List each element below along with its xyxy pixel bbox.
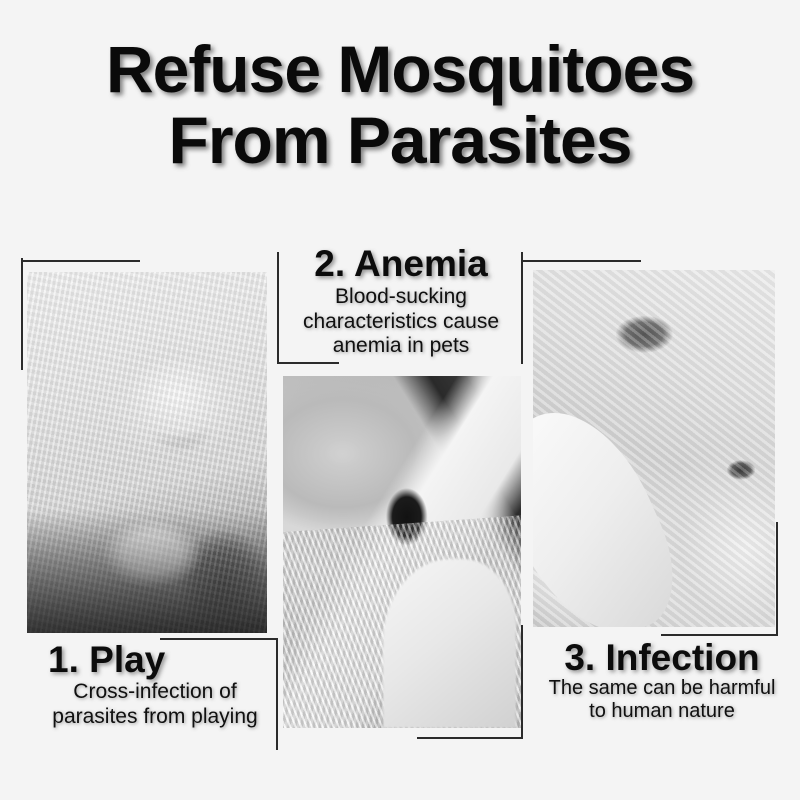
photo-play [27,272,267,633]
bracket-anemia-bottom-right-horizontal [417,737,523,739]
title-line-2: From Parasites [0,109,800,172]
bracket-play-top-left-vertical [21,258,23,370]
bracket-anemia-bottom-right-vertical [521,625,523,737]
caption-infection: 3. Infection The same can be harmful to … [528,638,796,724]
caption-play-body: Cross-infection of parasites from playin… [30,680,280,729]
caption-anemia-heading: 2. Anemia [270,244,532,283]
caption-anemia-body: Blood-sucking characteristics cause anem… [270,285,532,358]
photo-anemia-scene [283,376,521,728]
photo-play-scene [27,272,267,633]
bracket-infection-bottom-right-horizontal [661,634,778,636]
bracket-play-top-left-horizontal [21,260,140,262]
caption-infection-heading: 3. Infection [528,638,796,677]
photo-infection [533,270,775,627]
bracket-infection-top-left-horizontal [521,260,641,262]
caption-infection-body: The same can be harmful to human nature [528,677,796,723]
bracket-infection-bottom-right-vertical [776,522,778,634]
caption-anemia: 2. Anemia Blood-sucking characteristics … [270,244,532,358]
caption-play: 1. Play Cross-infection of parasites fro… [30,640,280,729]
photo-anemia [283,376,521,728]
photo-infection-scene [533,270,775,627]
title-line-1: Refuse Mosquitoes [0,38,800,101]
bracket-anemia-top-left-horizontal [277,362,339,364]
poster-title: Refuse Mosquitoes From Parasites [0,38,800,173]
poster-canvas: Refuse Mosquitoes From Parasites 2. Anem… [0,0,800,800]
caption-play-heading: 1. Play [30,640,280,679]
